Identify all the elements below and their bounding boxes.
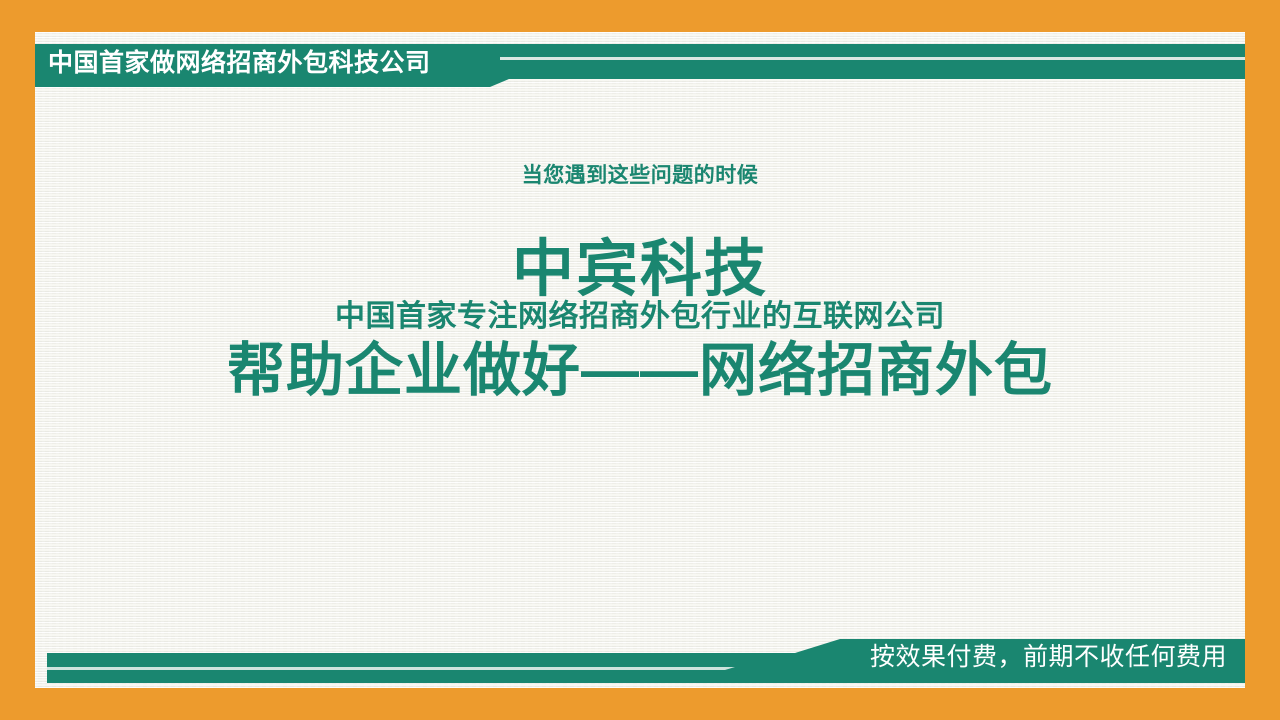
headline-text: 帮助企业做好——网络招商外包 (227, 339, 1053, 403)
slide-canvas: 中国首家做网络招商外包科技公司 当您遇到这些问题的时候 中宾科技 中国首家专注网… (35, 32, 1245, 688)
footer-hairline (47, 667, 735, 670)
presentation-slide: 中国首家做网络招商外包科技公司 当您遇到这些问题的时候 中宾科技 中国首家专注网… (0, 0, 1280, 720)
brand-name: 中宾科技 (512, 237, 768, 302)
footer-text: 按效果付费，前期不收任何费用 (870, 641, 1227, 673)
tagline-text: 中国首家专注网络招商外包行业的互联网公司 (335, 300, 945, 333)
footer-band: 按效果付费，前期不收任何费用 (35, 633, 1245, 685)
slide-content: 当您遇到这些问题的时候 中宾科技 中国首家专注网络招商外包行业的互联网公司 帮助… (35, 32, 1245, 688)
kicker-text: 当您遇到这些问题的时候 (522, 159, 759, 189)
